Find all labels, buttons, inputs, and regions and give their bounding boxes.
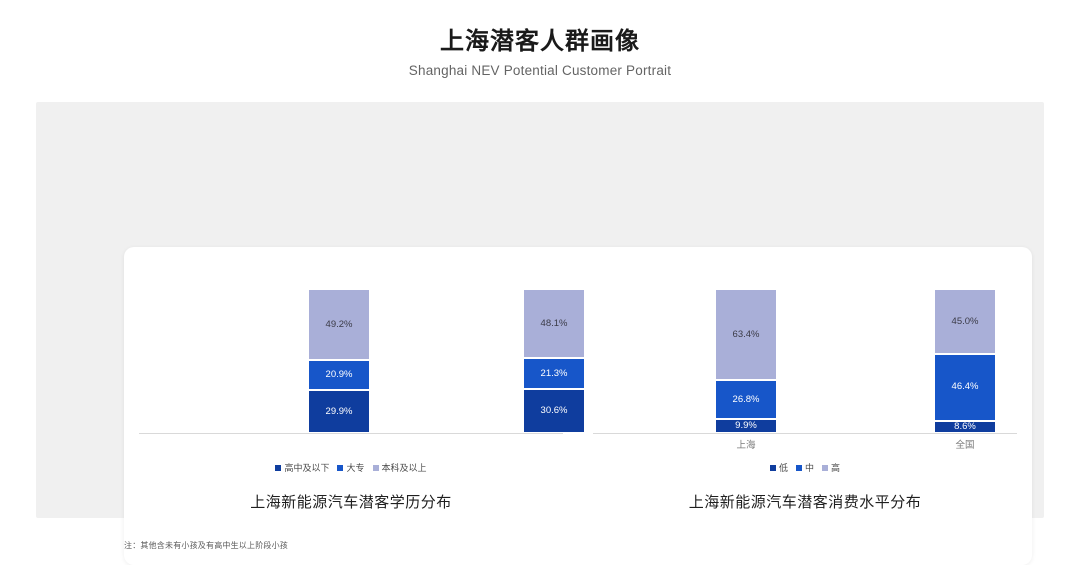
chart-education-distribution: 49.2%20.9%29.9%48.1%21.3%30.6% 高中及以下大专本科… (124, 247, 578, 527)
bar-segment-label: 8.6% (954, 422, 976, 432)
bar-segment: 46.4% (934, 354, 996, 421)
bar-segment: 45.0% (934, 289, 996, 354)
bar-segment-label: 45.0% (952, 317, 979, 327)
bar-segment: 21.3% (523, 358, 585, 389)
category-label: 上海 (736, 437, 755, 451)
bar-segment: 63.4% (715, 289, 777, 380)
footnote: 注：其他含未有小孩及有高中生以上阶段小孩 (124, 540, 288, 551)
legend-item[interactable]: 中 (796, 461, 814, 474)
page-title: 上海潜客人群画像 (0, 0, 1080, 57)
legend-item[interactable]: 低 (770, 461, 788, 474)
bar-segment-label: 26.8% (733, 395, 760, 405)
legend-item[interactable]: 大专 (337, 461, 364, 474)
bar-segment: 49.2% (308, 289, 370, 360)
bar-segment-label: 29.9% (326, 407, 353, 417)
chart-caption-education: 上海新能源汽车潜客学历分布 (124, 491, 578, 512)
bar-segment: 29.9% (308, 390, 370, 433)
legend-item[interactable]: 高中及以下 (275, 461, 329, 474)
legend-swatch-icon (275, 465, 281, 471)
stacked-bar: 45.0%46.4%8.6% (934, 289, 996, 433)
bar-segment: 20.9% (308, 360, 370, 390)
legend-label: 高 (831, 461, 840, 474)
legend-education: 高中及以下大专本科及以上 (124, 461, 578, 474)
category-label: 全国 (955, 437, 974, 451)
bar-segment-label: 49.2% (326, 320, 353, 330)
page-header: 上海潜客人群画像 Shanghai NEV Potential Customer… (0, 0, 1080, 78)
legend-label: 中 (805, 461, 814, 474)
page-subtitle: Shanghai NEV Potential Customer Portrait (0, 57, 1080, 78)
legend-label: 低 (779, 461, 788, 474)
bar-segment: 26.8% (715, 380, 777, 419)
bar-segment-label: 63.4% (733, 330, 760, 340)
plot-area-education: 49.2%20.9%29.9%48.1%21.3%30.6% (124, 289, 578, 433)
category-labels-education (124, 437, 578, 453)
legend-consumption: 低中高 (578, 461, 1032, 474)
bar-segment: 8.6% (934, 421, 996, 433)
bar-segment: 9.9% (715, 419, 777, 433)
legend-swatch-icon (337, 465, 343, 471)
chart-caption-consumption: 上海新能源汽车潜客消费水平分布 (578, 491, 1032, 512)
legend-item[interactable]: 本科及以上 (373, 461, 427, 474)
legend-item[interactable]: 高 (822, 461, 840, 474)
bar-segment-label: 30.6% (541, 406, 568, 416)
bar-segment: 48.1% (523, 289, 585, 358)
axis-line-education (139, 433, 563, 434)
stacked-bar: 48.1%21.3%30.6% (523, 289, 585, 433)
stacked-bar: 49.2%20.9%29.9% (308, 289, 370, 433)
charts-row: 49.2%20.9%29.9%48.1%21.3%30.6% 高中及以下大专本科… (124, 247, 1032, 527)
bar-segment: 30.6% (523, 389, 585, 433)
legend-swatch-icon (770, 465, 776, 471)
plot-area-consumption: 63.4%26.8%9.9%45.0%46.4%8.6% (578, 289, 1032, 433)
chart-card: 49.2%20.9%29.9%48.1%21.3%30.6% 高中及以下大专本科… (124, 247, 1032, 565)
stacked-bar: 63.4%26.8%9.9% (715, 289, 777, 433)
chart-consumption-distribution: 63.4%26.8%9.9%45.0%46.4%8.6% 上海全国 低中高 上海… (578, 247, 1032, 527)
bar-segment-label: 9.9% (735, 421, 757, 431)
category-labels-consumption: 上海全国 (578, 437, 1032, 453)
legend-swatch-icon (822, 465, 828, 471)
legend-label: 大专 (346, 461, 364, 474)
legend-swatch-icon (796, 465, 802, 471)
axis-line-consumption (593, 433, 1017, 434)
bar-segment-label: 48.1% (541, 319, 568, 329)
legend-label: 本科及以上 (382, 461, 427, 474)
bar-segment-label: 46.4% (952, 382, 979, 392)
slide-panel: 49.2%20.9%29.9%48.1%21.3%30.6% 高中及以下大专本科… (36, 102, 1044, 518)
legend-label: 高中及以下 (284, 461, 329, 474)
bar-segment-label: 21.3% (541, 369, 568, 379)
legend-swatch-icon (373, 465, 379, 471)
bar-segment-label: 20.9% (326, 370, 353, 380)
